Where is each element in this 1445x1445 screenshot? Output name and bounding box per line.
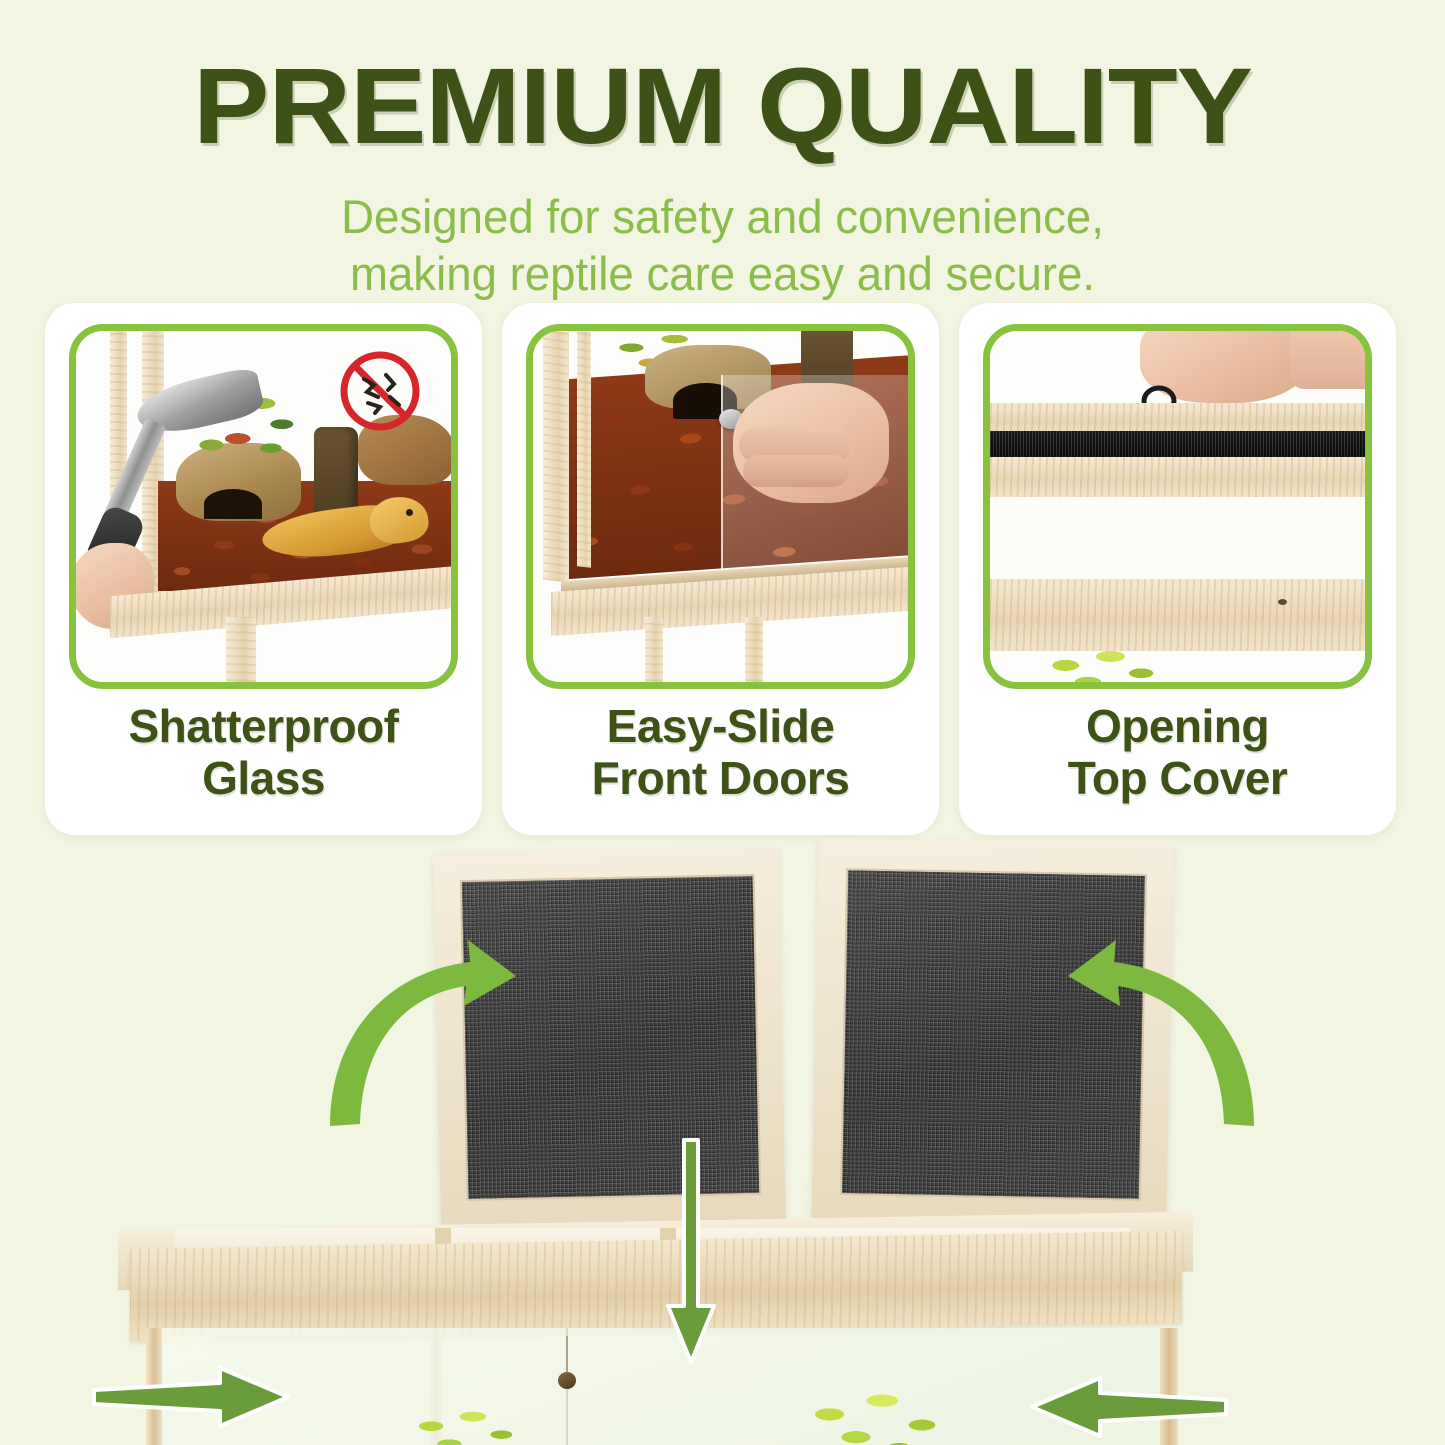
card-title-line-1: Shatterproof	[53, 701, 474, 753]
feature-photo-easy-slide-front-doors	[526, 324, 915, 689]
card-title-line-1: Opening	[967, 701, 1388, 753]
page-subtitle: Designed for safety and convenience, mak…	[22, 188, 1424, 303]
feature-card-title-opening-top-cover: Opening Top Cover	[967, 701, 1388, 804]
knob-cord	[566, 1336, 568, 1374]
no-crack-prohibition-icon	[334, 345, 426, 437]
arrow-airflow-left	[92, 1366, 292, 1428]
feature-card-opening-top-cover[interactable]: Opening Top Cover	[959, 303, 1396, 835]
page-title: PREMIUM QUALITY	[0, 52, 1445, 160]
card-title-line-2: Top Cover	[967, 753, 1388, 805]
marketing-infographic: PREMIUM QUALITY Designed for safety and …	[0, 0, 1445, 1445]
feature-card-title-easy-slide-front-doors: Easy-Slide Front Doors	[510, 701, 931, 804]
terrarium-upper-band	[130, 1231, 1182, 1341]
arrow-airflow-center	[660, 1136, 722, 1366]
arrow-curved-left	[322, 928, 522, 1138]
feature-photo-opening-top-cover	[983, 324, 1372, 689]
feature-card-row: Shatterproof Glass	[0, 303, 1445, 837]
arrow-curved-right	[1062, 928, 1262, 1138]
feature-card-shatterproof-glass[interactable]: Shatterproof Glass	[45, 303, 482, 835]
card-title-line-2: Front Doors	[510, 753, 931, 805]
card-title-line-2: Glass	[53, 753, 474, 805]
screw-hole-icon	[1278, 599, 1287, 605]
card-title-line-1: Easy-Slide	[510, 701, 931, 753]
arrow-airflow-right	[1028, 1376, 1228, 1438]
feature-card-easy-slide-front-doors[interactable]: Easy-Slide Front Doors	[502, 303, 939, 835]
subtitle-line-1: Designed for safety and convenience,	[22, 188, 1424, 245]
subtitle-line-2: making reptile care easy and secure.	[22, 245, 1424, 302]
door-knob-lower-icon	[558, 1372, 576, 1389]
plant-right	[790, 1384, 955, 1445]
feature-card-title-shatterproof-glass: Shatterproof Glass	[53, 701, 474, 804]
feature-photo-shatterproof-glass	[69, 324, 458, 689]
plant-left	[400, 1401, 530, 1445]
mesh-cover-strip	[990, 431, 1365, 459]
product-photo-terrarium	[0, 836, 1445, 1445]
